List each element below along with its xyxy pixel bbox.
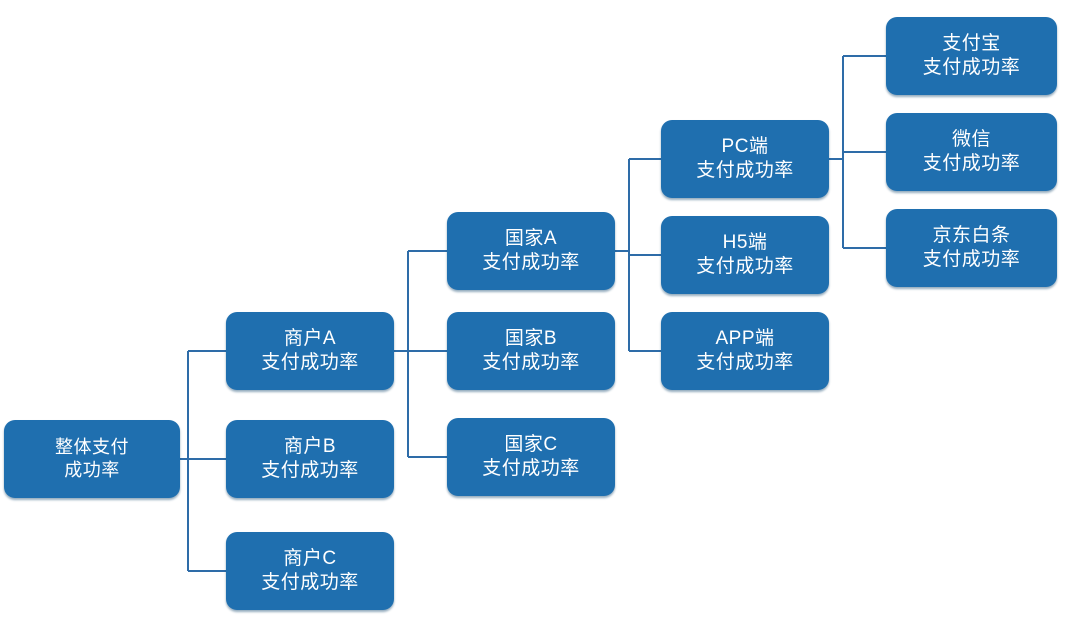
node-terminal-pc-line1: PC端 <box>722 135 769 159</box>
node-country-b[interactable]: 国家B 支付成功率 <box>447 312 615 390</box>
node-country-a-line2: 支付成功率 <box>482 251 580 275</box>
node-root-line2: 成功率 <box>64 459 120 482</box>
node-merchant-b[interactable]: 商户B 支付成功率 <box>226 420 394 498</box>
node-country-c[interactable]: 国家C 支付成功率 <box>447 418 615 496</box>
node-merchant-b-line2: 支付成功率 <box>261 459 359 483</box>
node-root[interactable]: 整体支付 成功率 <box>4 420 180 498</box>
node-merchant-c[interactable]: 商户C 支付成功率 <box>226 532 394 610</box>
node-country-c-line2: 支付成功率 <box>482 457 580 481</box>
node-method-jdbaitiao-line2: 支付成功率 <box>923 248 1021 272</box>
node-terminal-app-line2: 支付成功率 <box>696 351 794 375</box>
node-method-wechat[interactable]: 微信 支付成功率 <box>886 113 1057 191</box>
diagram-canvas: 整体支付 成功率 商户A 支付成功率 商户B 支付成功率 商户C 支付成功率 国… <box>0 0 1080 632</box>
node-country-a[interactable]: 国家A 支付成功率 <box>447 212 615 290</box>
node-terminal-h5-line1: H5端 <box>723 231 768 255</box>
node-method-jdbaitiao[interactable]: 京东白条 支付成功率 <box>886 209 1057 287</box>
node-method-alipay-line2: 支付成功率 <box>923 56 1021 80</box>
node-country-b-line1: 国家B <box>505 327 557 351</box>
node-terminal-h5[interactable]: H5端 支付成功率 <box>661 216 829 294</box>
node-country-c-line1: 国家C <box>504 433 557 457</box>
node-merchant-b-line1: 商户B <box>284 435 336 459</box>
node-terminal-h5-line2: 支付成功率 <box>696 255 794 279</box>
node-root-line1: 整体支付 <box>55 436 129 459</box>
node-method-wechat-line1: 微信 <box>952 128 991 152</box>
node-terminal-app-line1: APP端 <box>715 327 774 351</box>
node-method-alipay[interactable]: 支付宝 支付成功率 <box>886 17 1057 95</box>
node-merchant-a-line1: 商户A <box>284 327 336 351</box>
node-terminal-pc[interactable]: PC端 支付成功率 <box>661 120 829 198</box>
node-method-alipay-line1: 支付宝 <box>942 32 1001 56</box>
node-merchant-c-line1: 商户C <box>283 547 336 571</box>
node-merchant-a-line2: 支付成功率 <box>261 351 359 375</box>
node-terminal-pc-line2: 支付成功率 <box>696 159 794 183</box>
node-merchant-c-line2: 支付成功率 <box>261 571 359 595</box>
node-method-jdbaitiao-line1: 京东白条 <box>932 224 1010 248</box>
node-terminal-app[interactable]: APP端 支付成功率 <box>661 312 829 390</box>
node-country-b-line2: 支付成功率 <box>482 351 580 375</box>
node-merchant-a[interactable]: 商户A 支付成功率 <box>226 312 394 390</box>
node-country-a-line1: 国家A <box>505 227 557 251</box>
node-method-wechat-line2: 支付成功率 <box>923 152 1021 176</box>
